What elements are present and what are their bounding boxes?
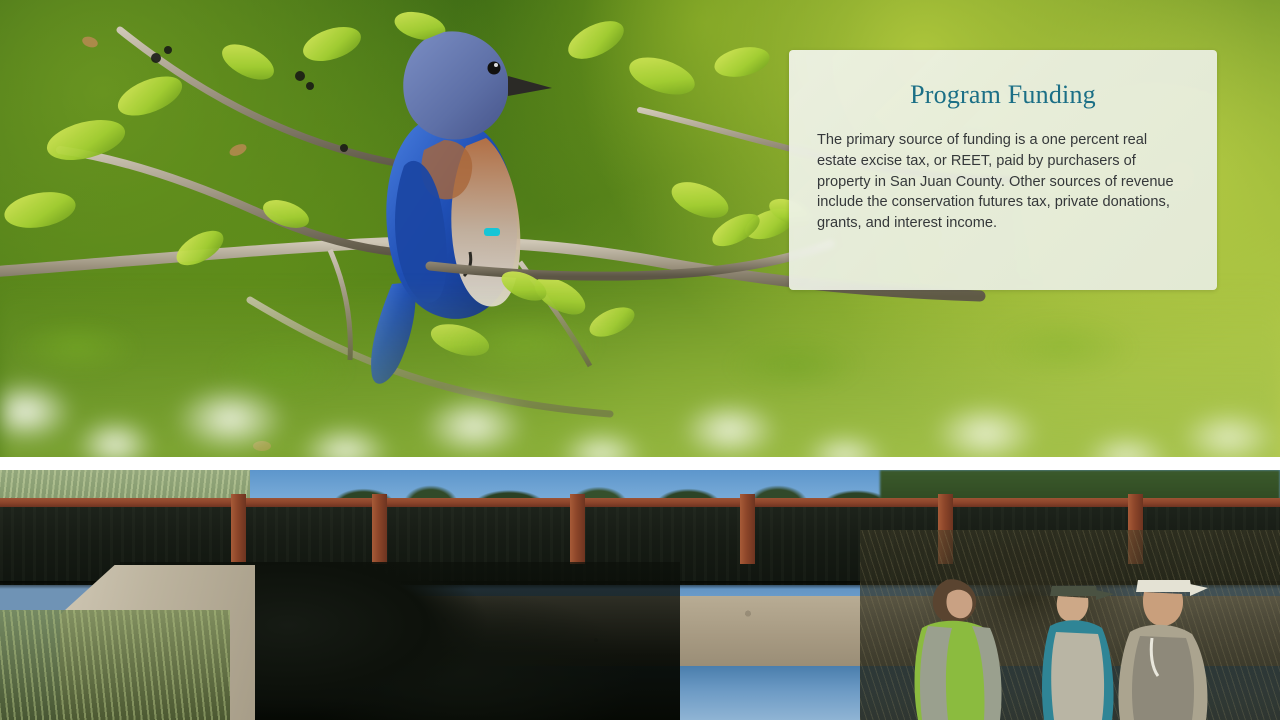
person-right	[1118, 580, 1208, 720]
estuary-photo-section: Community Participation Public opinion h…	[0, 470, 1280, 720]
bridge-rail	[0, 498, 1280, 507]
program-funding-title: Program Funding	[817, 80, 1189, 110]
page-root: Program Funding The primary source of fu…	[0, 0, 1280, 720]
foreground-blossom-blur	[0, 282, 1280, 457]
bridge-post	[372, 494, 387, 564]
bluebird-photo-section: Program Funding The primary source of fu…	[0, 0, 1280, 457]
program-funding-card: Program Funding The primary source of fu…	[789, 50, 1217, 290]
section-divider	[0, 457, 1280, 470]
bridge-post	[231, 494, 246, 564]
person-middle	[1042, 586, 1114, 720]
people-group	[900, 550, 1280, 720]
program-funding-body: The primary source of funding is a one p…	[817, 130, 1189, 234]
person-left	[915, 579, 1002, 720]
bridge-post	[570, 494, 585, 564]
foreground-grass	[0, 610, 230, 720]
bridge-post	[740, 494, 755, 564]
